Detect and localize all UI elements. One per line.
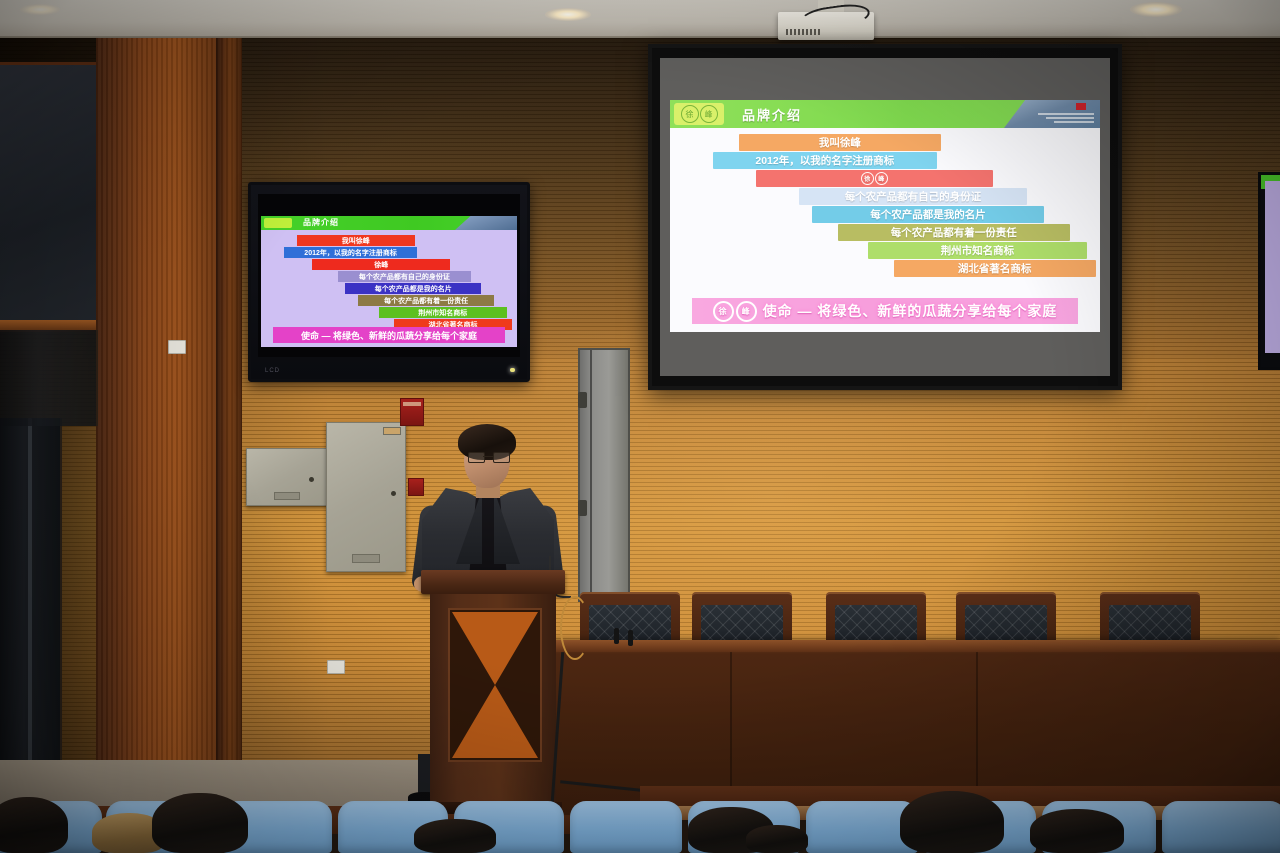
logo-circle-1: 徐 — [713, 301, 734, 322]
brand-logo-icon: 徐 峰 — [674, 103, 724, 125]
lcd-screen: 品牌介绍 我叫徐峰2012年，以我的名字注册商标徐峰每个农产品都有自己的身份证每… — [258, 194, 520, 357]
projector-vent — [786, 29, 822, 35]
lcd-right-screen — [1265, 181, 1280, 353]
panel-label-large — [352, 554, 380, 563]
wall-switch-plate-lower[interactable] — [327, 660, 345, 674]
podium-bowtie-inlay — [452, 612, 538, 758]
slide-body: 我叫徐峰2012年，以我的名字注册商标徐峰每个农产品都有自己的身份证每个农产品都… — [670, 128, 1100, 332]
chair-cushion — [965, 605, 1047, 642]
mission-text: 使命 — 将绿色、新鲜的瓜蔬分享给每个家庭 — [763, 301, 1058, 321]
screen-surface: 徐 峰 品牌介绍 我叫徐峰2012年，以我的名字注册商标徐峰每个农产品都有自己的… — [660, 58, 1110, 376]
door-hinge-top — [578, 392, 587, 408]
audience-head — [746, 825, 808, 853]
presentation-slide: 徐 峰 品牌介绍 我叫徐峰2012年，以我的名字注册商标徐峰每个农产品都有自己的… — [670, 100, 1100, 332]
header-photo-thumb — [1004, 100, 1100, 128]
slide-row-8: 湖北省著名商标 — [894, 260, 1096, 277]
conference-chair[interactable] — [826, 592, 926, 644]
photo-red-accent — [1076, 103, 1086, 110]
lcd-slide-row-3: 徐峰 — [312, 259, 450, 270]
ceiling — [0, 0, 1280, 40]
wall-switch-plate-left[interactable] — [168, 340, 186, 354]
logo-circle-2: 峰 — [875, 172, 888, 185]
conference-chair[interactable] — [1100, 592, 1200, 644]
lcd-slide-title: 品牌介绍 — [303, 217, 339, 228]
ceiling-light-2 — [1130, 2, 1182, 17]
lcd-slide-body: 我叫徐峰2012年，以我的名字注册商标徐峰每个农产品都有自己的身份证每个农产品都… — [261, 230, 517, 347]
speaker-podium — [430, 570, 556, 806]
slide-mission-banner: 徐峰使命 — 将绿色、新鲜的瓜蔬分享给每个家庭 — [692, 298, 1078, 324]
lcd-header-photo — [455, 216, 517, 230]
fire-alarm-box[interactable] — [400, 398, 424, 426]
slide-row-6: 每个农产品都有着一份责任 — [838, 224, 1070, 241]
slide-row-7: 荆州市知名商标 — [868, 242, 1087, 259]
wall-lcd-monitor: 品牌介绍 我叫徐峰2012年，以我的名字注册商标徐峰每个农产品都有自己的身份证每… — [248, 182, 530, 382]
lcd-slide-row-4: 每个农产品都有自己的身份证 — [338, 271, 471, 282]
chair-cushion — [701, 605, 783, 642]
audience-head — [414, 819, 496, 853]
logo-circle-2: 峰 — [700, 105, 718, 123]
lcd-slide-row-7: 荆州市知名商标 — [379, 307, 507, 318]
audience-seat[interactable] — [1162, 801, 1280, 853]
projection-screen: 徐 峰 品牌介绍 我叫徐峰2012年，以我的名字注册商标徐峰每个农产品都有自己的… — [648, 44, 1122, 390]
panel-tag — [383, 427, 401, 435]
wood-column-left — [96, 38, 230, 820]
table-microphone[interactable] — [628, 630, 633, 646]
logo-circle-2: 峰 — [736, 301, 757, 322]
conference-chair[interactable] — [692, 592, 792, 644]
panel-label — [274, 492, 300, 500]
slide-row-1: 我叫徐峰 — [739, 134, 941, 151]
coiled-cable — [560, 596, 590, 660]
lcd-slide-header: 品牌介绍 — [261, 216, 517, 230]
audience-head — [900, 791, 1004, 853]
glasses-lens-right — [493, 452, 510, 463]
podium-top-surface — [421, 570, 565, 594]
slide-header-bar: 徐 峰 品牌介绍 — [670, 100, 1100, 128]
audience-head — [1030, 809, 1124, 853]
lcd-slide-mirror: 品牌介绍 我叫徐峰2012年，以我的名字注册商标徐峰每个农产品都有自己的身份证每… — [261, 216, 517, 347]
audience-head — [0, 797, 68, 853]
chair-cushion — [835, 605, 917, 642]
chair-cushion — [1109, 605, 1191, 642]
conference-chair[interactable] — [956, 592, 1056, 644]
lcd-slide-row-6: 每个农产品都有着一份责任 — [358, 295, 494, 306]
lcd-slide-row-2: 2012年，以我的名字注册商标 — [284, 247, 417, 258]
audience-head — [152, 793, 248, 853]
wood-column-edge — [216, 38, 242, 820]
photo-line-2 — [1046, 117, 1094, 119]
mission-logo-icon: 徐峰 — [713, 301, 757, 322]
electrical-panel-large[interactable] — [326, 422, 406, 572]
ceiling-light-3 — [20, 4, 60, 15]
ceiling-light-1 — [545, 8, 591, 21]
photo-line-3 — [1054, 121, 1094, 123]
slide-row-logo-icon: 徐峰 — [859, 172, 889, 185]
blackboard — [0, 62, 102, 326]
table-top-edge — [540, 640, 1280, 652]
lcd-slide-row-5: 每个农产品都是我的名片 — [345, 283, 481, 294]
lcd-slide-row-1: 我叫徐峰 — [297, 235, 415, 246]
slide-title: 品牌介绍 — [742, 105, 802, 124]
panel-lock-knob[interactable] — [309, 477, 314, 482]
photo-line-1 — [1038, 113, 1094, 115]
lcd-brand-logo-icon — [264, 218, 292, 228]
wall-lcd-monitor-right — [1258, 172, 1280, 370]
lcd-mission-banner: 使命 — 将绿色、新鲜的瓜蔬分享给每个家庭 — [273, 327, 505, 343]
slide-row-2: 2012年，以我的名字注册商标 — [713, 152, 937, 169]
table-microphone[interactable] — [614, 628, 619, 644]
audience-seating — [0, 806, 1280, 853]
lcd-bezel-brand: LCD — [265, 368, 280, 374]
logo-circle-1: 徐 — [681, 105, 699, 123]
slide-row-4: 每个农产品都有自己的身份证 — [799, 188, 1027, 205]
glasses-lens-left — [468, 452, 485, 463]
electrical-panel-small[interactable] — [246, 448, 328, 506]
door-hinge-bottom — [578, 500, 587, 516]
podium-front-panel — [448, 608, 542, 762]
door-seam — [590, 350, 592, 600]
service-door[interactable] — [578, 348, 630, 602]
glasses-bridge — [483, 456, 493, 457]
panel-lock-knob-large[interactable] — [391, 491, 396, 496]
fire-alarm-strip — [403, 402, 421, 406]
audience-seat[interactable] — [570, 801, 682, 853]
lcd-power-led — [510, 368, 515, 372]
eyeglasses-icon — [468, 452, 508, 461]
presentation-scene-photo: 徐 峰 品牌介绍 我叫徐峰2012年，以我的名字注册商标徐峰每个农产品都有自己的… — [0, 0, 1280, 853]
slide-row-3: 徐峰 — [756, 170, 993, 187]
dark-wall-recess — [0, 330, 98, 426]
logo-circle-1: 徐 — [861, 172, 874, 185]
slide-row-5: 每个农产品都是我的名片 — [812, 206, 1044, 223]
